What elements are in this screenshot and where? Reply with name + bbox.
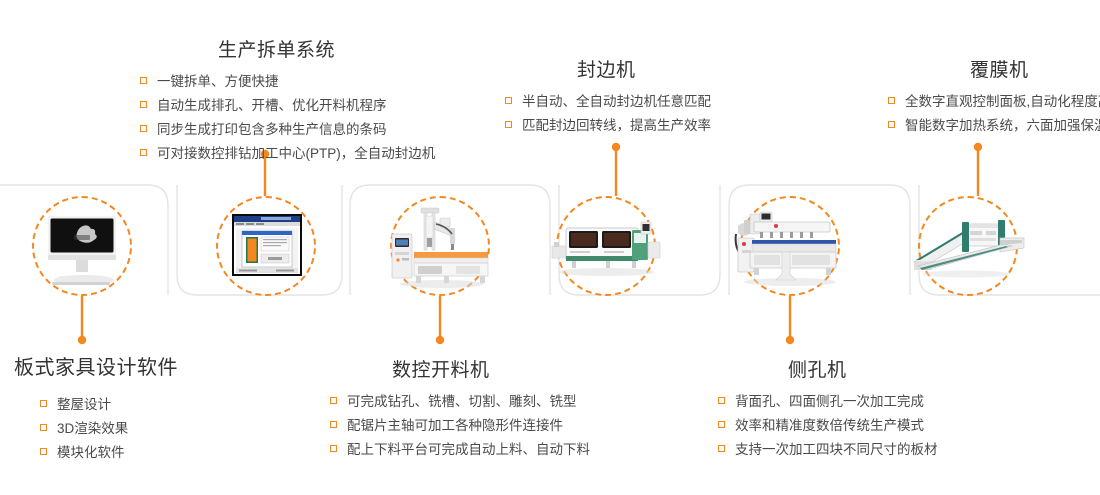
bullet-square-icon	[505, 97, 512, 104]
list-item: 3D渲染效果	[40, 417, 224, 441]
block-feature-list: 背面孔、四面侧孔一次加工完成 效率和精准度数倍传统生产模式 支持一次加工四块不同…	[718, 390, 988, 462]
block-feature-list: 可完成钻孔、铣槽、切割、雕刻、铣型 配锯片主轴可加工各种隐形件连接件 配上下料平…	[330, 390, 610, 462]
list-item-label: 可完成钻孔、铣槽、切割、雕刻、铣型	[347, 394, 577, 409]
laminating-machine-icon	[908, 200, 1028, 292]
list-item-label: 可对接数控排钻加工中心(PTP)，全自动封边机	[157, 146, 435, 161]
list-item: 配锯片主轴可加工各种隐形件连接件	[330, 414, 610, 438]
imac-monitor-icon	[22, 200, 142, 292]
bullet-square-icon	[505, 121, 512, 128]
bullet-square-icon	[140, 125, 147, 132]
block-feature-list: 一键拆单、方便快捷 自动生成排孔、开槽、优化开料机程序 同步生成打印包含多种生产…	[140, 70, 440, 166]
list-item: 自动生成排孔、开槽、优化开料机程序	[140, 94, 440, 118]
list-item-label: 配上下料平台可完成自动上料、自动下料	[347, 442, 590, 457]
connector-dot-node-1	[78, 336, 86, 344]
block-title: 板式家具设计软件	[14, 355, 224, 381]
node-design-software[interactable]	[32, 196, 132, 296]
bullet-square-icon	[40, 400, 47, 407]
list-item-label: 背面孔、四面侧孔一次加工完成	[735, 394, 924, 409]
process-flow-infographic: 生产拆单系统 一键拆单、方便快捷 自动生成排孔、开槽、优化开料机程序 同步生成打…	[0, 0, 1100, 495]
list-item: 效率和精准度数倍传统生产模式	[718, 414, 988, 438]
block-title: 覆膜机	[970, 58, 1100, 84]
node-cnc-cutting[interactable]	[390, 196, 490, 296]
block-laminating: 覆膜机 全数字直观控制面板,自动化程度高 智能数字加热系统，六面加强保温	[888, 58, 1100, 138]
list-item-label: 整屋设计	[57, 397, 111, 412]
list-item-label: 3D渲染效果	[57, 421, 128, 436]
bullet-square-icon	[330, 421, 337, 428]
list-item-label: 同步生成打印包含多种生产信息的条码	[157, 122, 387, 137]
node-split-system[interactable]	[216, 196, 316, 296]
edge-banding-machine-icon	[546, 200, 666, 292]
block-edge-banding: 封边机 半自动、全自动封边机任意匹配 匹配封边回转线，提高生产效率	[505, 58, 735, 138]
list-item-label: 自动生成排孔、开槽、优化开料机程序	[157, 98, 387, 113]
connector-dot-node-3	[436, 336, 444, 344]
block-feature-list: 半自动、全自动封边机任意匹配 匹配封边回转线，提高生产效率	[505, 90, 735, 138]
cnc-router-icon	[380, 200, 500, 292]
block-title: 生产拆单系统	[218, 38, 440, 64]
list-item: 智能数字加热系统，六面加强保温	[888, 114, 1100, 138]
side-drilling-machine-icon	[730, 200, 850, 292]
block-title: 侧孔机	[788, 358, 988, 384]
list-item: 半自动、全自动封边机任意匹配	[505, 90, 735, 114]
bullet-square-icon	[40, 448, 47, 455]
node-laminating[interactable]	[918, 196, 1018, 296]
list-item-label: 配锯片主轴可加工各种隐形件连接件	[347, 418, 563, 433]
list-item-label: 智能数字加热系统，六面加强保温	[905, 118, 1100, 133]
list-item: 可对接数控排钻加工中心(PTP)，全自动封边机	[140, 142, 440, 166]
block-feature-list: 全数字直观控制面板,自动化程度高 智能数字加热系统，六面加强保温	[888, 90, 1100, 138]
list-item: 模块化软件	[40, 441, 224, 465]
list-item-label: 模块化软件	[57, 445, 125, 460]
block-design-software: 板式家具设计软件 整屋设计 3D渲染效果 模块化软件	[14, 355, 224, 465]
list-item: 背面孔、四面侧孔一次加工完成	[718, 390, 988, 414]
list-item: 一键拆单、方便快捷	[140, 70, 440, 94]
node-edge-banding[interactable]	[556, 196, 656, 296]
bullet-square-icon	[140, 77, 147, 84]
block-title: 封边机	[577, 58, 735, 84]
bullet-square-icon	[140, 149, 147, 156]
block-title: 数控开料机	[392, 358, 610, 384]
list-item-label: 支持一次加工四块不同尺寸的板材	[735, 442, 938, 457]
list-item: 配上下料平台可完成自动上料、自动下料	[330, 438, 610, 462]
bullet-square-icon	[718, 445, 725, 452]
block-side-drilling: 侧孔机 背面孔、四面侧孔一次加工完成 效率和精准度数倍传统生产模式 支持一次加工…	[718, 358, 988, 462]
bullet-square-icon	[888, 97, 895, 104]
bullet-square-icon	[140, 101, 147, 108]
list-item: 支持一次加工四块不同尺寸的板材	[718, 438, 988, 462]
bullet-square-icon	[330, 445, 337, 452]
list-item-label: 半自动、全自动封边机任意匹配	[522, 94, 711, 109]
block-split-system: 生产拆单系统 一键拆单、方便快捷 自动生成排孔、开槽、优化开料机程序 同步生成打…	[140, 38, 440, 166]
bullet-square-icon	[40, 424, 47, 431]
bullet-square-icon	[718, 421, 725, 428]
connector-dot-node-5	[786, 336, 794, 344]
list-item-label: 效率和精准度数倍传统生产模式	[735, 418, 924, 433]
list-item-label: 匹配封边回转线，提高生产效率	[522, 118, 711, 133]
list-item: 全数字直观控制面板,自动化程度高	[888, 90, 1100, 114]
list-item: 整屋设计	[40, 393, 224, 417]
connector-dot-node-6	[974, 143, 982, 151]
bullet-square-icon	[330, 397, 337, 404]
software-screen-icon	[206, 200, 326, 292]
list-item-label: 一键拆单、方便快捷	[157, 74, 279, 89]
node-side-drilling[interactable]	[740, 196, 840, 296]
bullet-square-icon	[888, 121, 895, 128]
connector-dot-node-4	[612, 143, 620, 151]
block-feature-list: 整屋设计 3D渲染效果 模块化软件	[40, 393, 224, 465]
list-item-label: 全数字直观控制面板,自动化程度高	[905, 94, 1100, 109]
bullet-square-icon	[718, 397, 725, 404]
list-item: 匹配封边回转线，提高生产效率	[505, 114, 735, 138]
list-item: 可完成钻孔、铣槽、切割、雕刻、铣型	[330, 390, 610, 414]
list-item: 同步生成打印包含多种生产信息的条码	[140, 118, 440, 142]
block-cnc-cutting: 数控开料机 可完成钻孔、铣槽、切割、雕刻、铣型 配锯片主轴可加工各种隐形件连接件…	[330, 358, 610, 462]
